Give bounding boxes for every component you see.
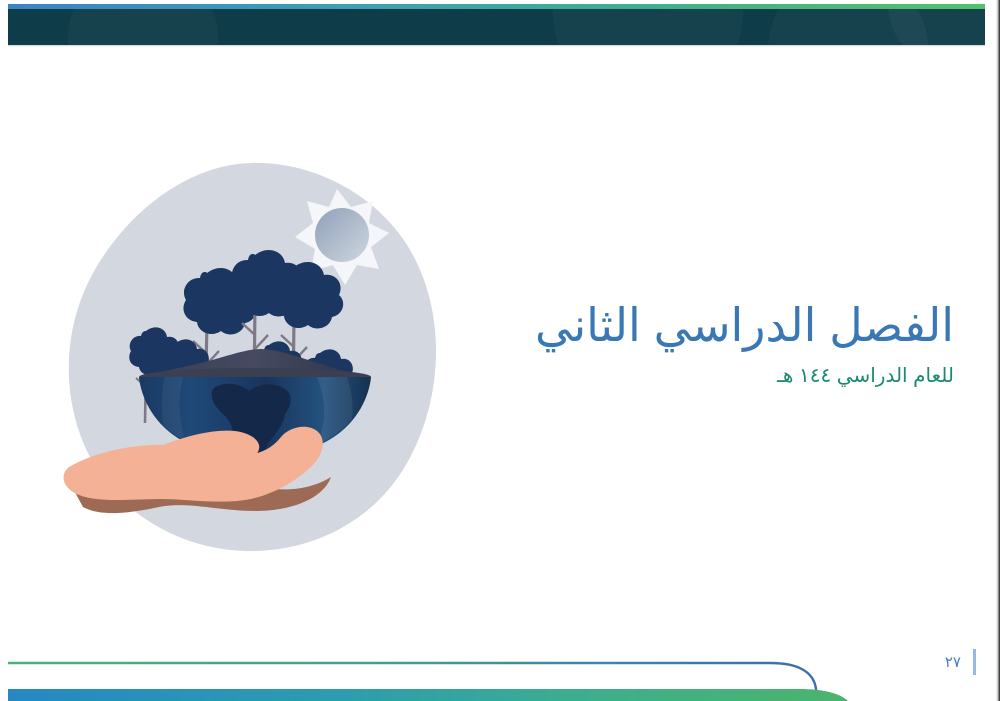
header-decorative-circle — [68, 9, 218, 45]
header-decorative-circle — [553, 9, 743, 45]
title-block: الفصل الدراسي الثاني للعام الدراسي ١٤٤ ه… — [394, 300, 954, 388]
page-number-group: ٢٧ — [945, 649, 976, 675]
slide-subtitle: للعام الدراسي ١٤٤ هـ — [394, 364, 954, 388]
slide-footer: ٢٧ — [0, 631, 1000, 701]
header-band-shadow — [8, 45, 985, 47]
slide-header — [0, 0, 1000, 52]
header-dark-band — [8, 9, 985, 45]
presentation-slide: الفصل الدراسي الثاني للعام الدراسي ١٤٤ ه… — [0, 0, 1000, 701]
sun-disc-icon — [315, 208, 369, 262]
footer-thin-curved-line — [8, 663, 816, 693]
header-decorative-circle — [888, 9, 985, 45]
footer-swoosh-decoration — [0, 631, 1000, 701]
slide-right-frame-edge — [996, 0, 1000, 701]
page-number-divider — [973, 649, 976, 675]
footer-gradient-band — [8, 689, 848, 701]
page-number: ٢٧ — [945, 655, 961, 670]
slide-title: الفصل الدراسي الثاني — [394, 300, 954, 352]
